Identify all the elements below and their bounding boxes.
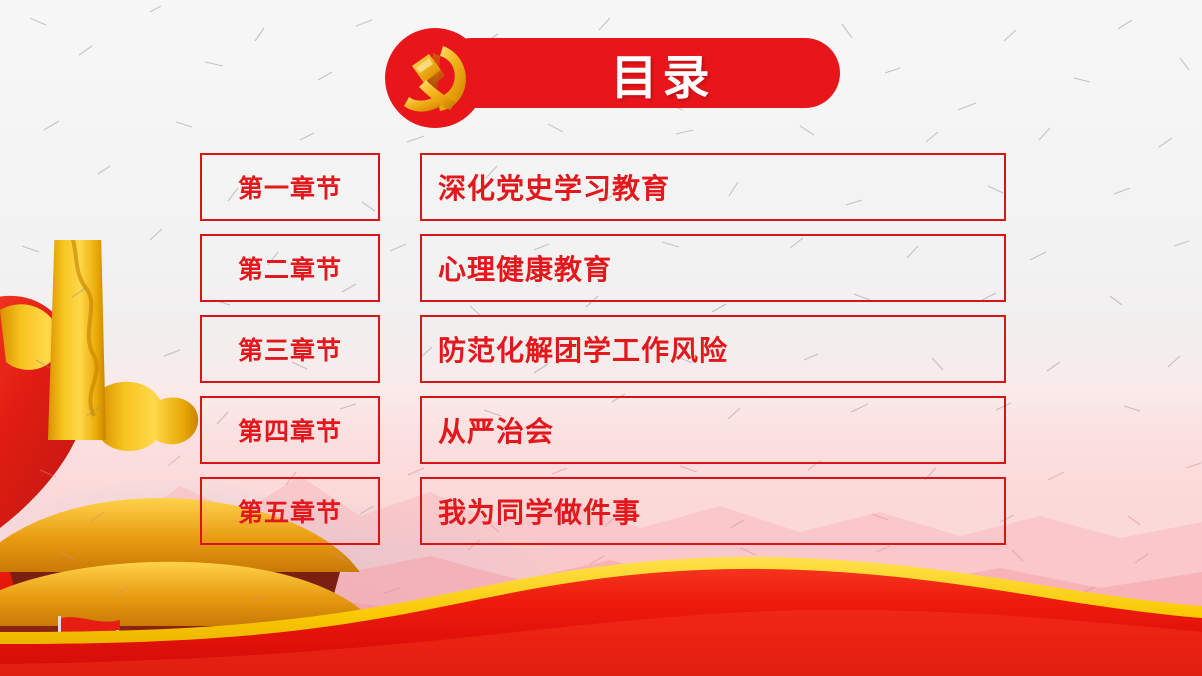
toc-chapter-title: 防范化解团学工作风险	[420, 315, 1006, 383]
red-gold-wave-banner	[0, 536, 1202, 676]
toc-row[interactable]: 第一章节 深化党史学习教育	[200, 153, 1006, 221]
toc-row[interactable]: 第五章节 我为同学做件事	[200, 477, 1006, 545]
toc-chapter-title: 心理健康教育	[420, 234, 1006, 302]
toc-row[interactable]: 第三章节 防范化解团学工作风险	[200, 315, 1006, 383]
toc-row[interactable]: 第四章节 从严治会	[200, 396, 1006, 464]
toc-chapter-number: 第五章节	[200, 477, 380, 545]
presentation-slide: 目录 第一章节 深化党史学习教育 第二章节 心理健康教育 第三章节 防范化解团学…	[0, 0, 1202, 676]
toc-chapter-title: 从严治会	[420, 396, 1006, 464]
table-of-contents: 第一章节 深化党史学习教育 第二章节 心理健康教育 第三章节 防范化解团学工作风…	[200, 153, 1006, 545]
toc-chapter-number: 第四章节	[200, 396, 380, 464]
toc-chapter-title: 深化党史学习教育	[420, 153, 1006, 221]
page-title: 目录	[437, 38, 840, 108]
toc-chapter-number: 第二章节	[200, 234, 380, 302]
toc-chapter-title: 我为同学做件事	[420, 477, 1006, 545]
toc-chapter-number: 第三章节	[200, 315, 380, 383]
toc-row[interactable]: 第二章节 心理健康教育	[200, 234, 1006, 302]
toc-chapter-number: 第一章节	[200, 153, 380, 221]
slide-title-banner: 目录	[385, 28, 840, 128]
